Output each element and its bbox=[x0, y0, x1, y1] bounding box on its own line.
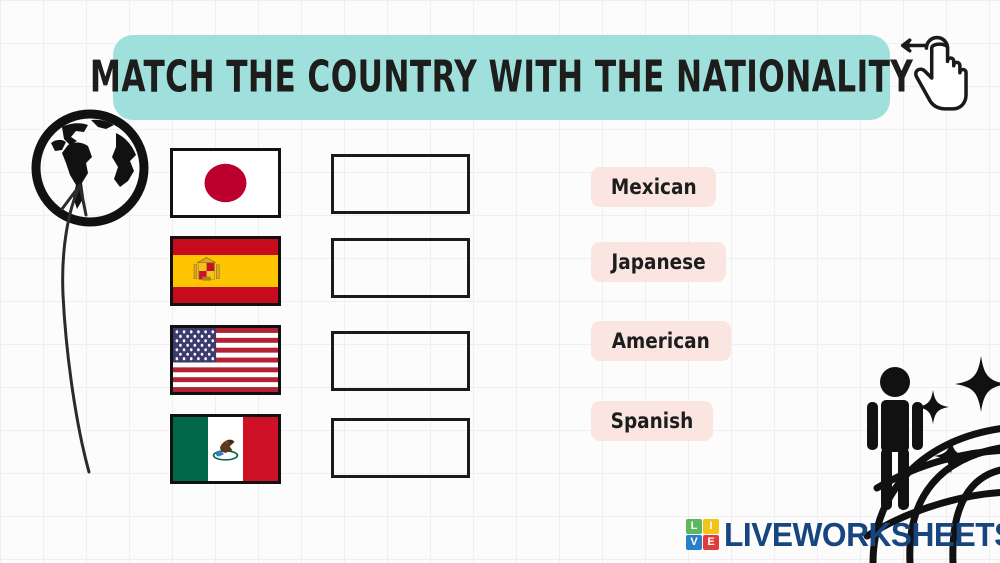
nationality-pill-mexican[interactable]: Mexican bbox=[591, 167, 716, 207]
answer-box-4[interactable] bbox=[331, 418, 470, 478]
liveworksheets-logo: L I V E LIVEWORKSHEETS bbox=[686, 515, 1000, 553]
nationality-pill-spanish[interactable]: Spanish bbox=[591, 401, 713, 441]
logo-squares: L I V E bbox=[686, 519, 719, 550]
spain-flag bbox=[170, 236, 281, 306]
logo-square-i: I bbox=[703, 519, 719, 534]
logo-square-e: E bbox=[703, 535, 719, 550]
usa-flag bbox=[170, 325, 281, 395]
logo-square-v: V bbox=[686, 535, 702, 550]
nationality-pill-american[interactable]: American bbox=[591, 321, 731, 361]
answer-box-2[interactable] bbox=[331, 238, 470, 298]
nationality-label: Japanese bbox=[611, 252, 705, 273]
nationality-label: American bbox=[612, 331, 710, 352]
japan-flag bbox=[170, 148, 281, 218]
nationality-label: Mexican bbox=[611, 177, 697, 198]
nationality-pill-japanese[interactable]: Japanese bbox=[591, 242, 726, 282]
page-title: MATCH THE COUNTRY WITH THE NATIONALITY bbox=[90, 56, 913, 100]
answer-box-3[interactable] bbox=[331, 331, 470, 391]
logo-square-l: L bbox=[686, 519, 702, 534]
worksheet-canvas: MATCH THE COUNTRY WITH THE NATIONALITY bbox=[0, 0, 1000, 563]
mexico-flag bbox=[170, 414, 281, 484]
drag-hand-gesture-icon bbox=[893, 27, 981, 115]
title-banner: MATCH THE COUNTRY WITH THE NATIONALITY bbox=[113, 35, 890, 120]
nationality-label: Spanish bbox=[611, 411, 694, 432]
globe-illustration bbox=[18, 105, 163, 495]
answer-box-1[interactable] bbox=[331, 154, 470, 214]
logo-wordmark: LIVEWORKSHEETS bbox=[724, 518, 1000, 551]
